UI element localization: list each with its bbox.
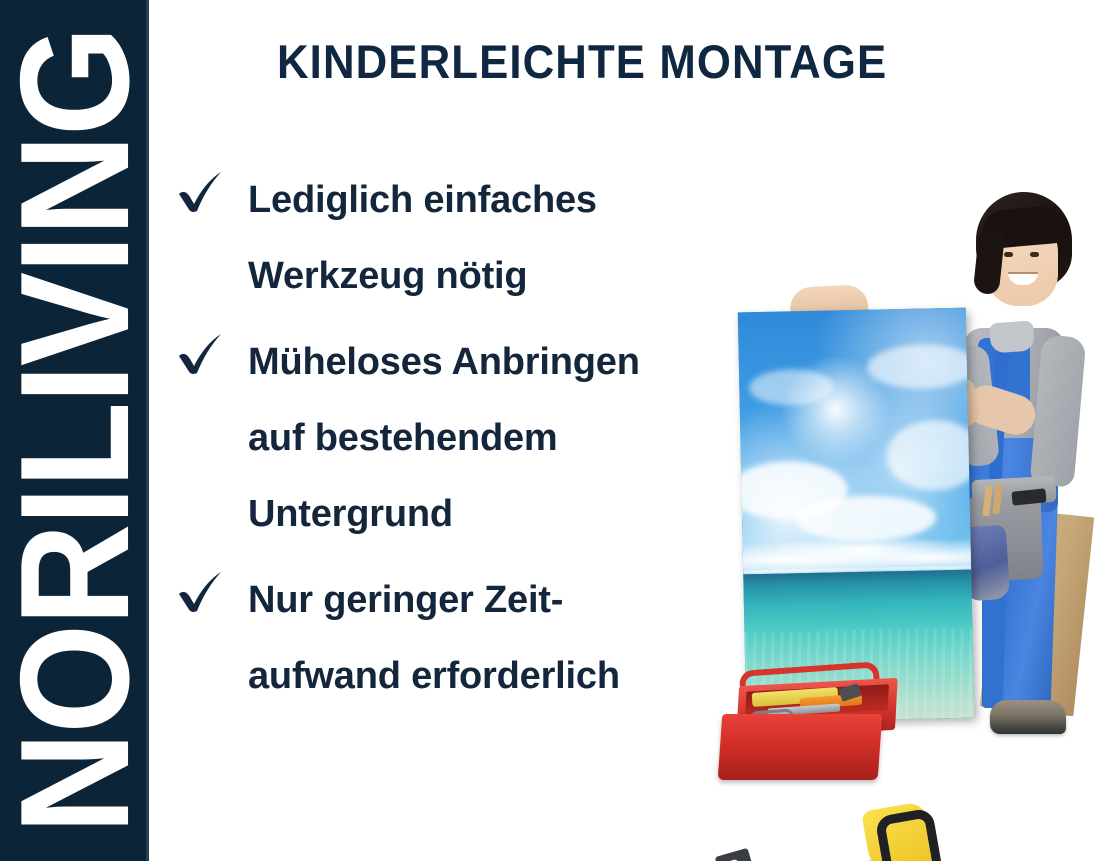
check-icon [176,332,224,376]
eye-left [1004,252,1013,257]
shirt-collar [989,321,1035,354]
check-icon [176,170,224,214]
list-item-line: auf bestehendem [248,400,692,476]
list-item: Müheloses Anbringen auf bestehendem Unte… [172,324,692,552]
list-item-line: Lediglich einfaches [248,162,692,238]
eye-right [1030,252,1039,257]
list-item-line: Untergrund [248,476,692,552]
list-item-line: Nur geringer Zeit- [248,562,692,638]
toolbox-body [718,714,883,780]
benefit-list: Lediglich einfaches Werkzeug nötig Mühel… [172,162,692,724]
hand-saw [720,800,920,861]
list-item-line: Müheloses Anbringen [248,324,692,400]
saw-grip [875,807,944,861]
brand-sidebar-edge [146,0,149,861]
promo-banner: NORILIVING KINDERLEICHTE MONTAGE Ledigli… [0,0,1111,861]
toolbox [716,658,906,790]
check-icon [176,570,224,614]
brand-sidebar: NORILIVING [0,0,149,861]
list-item-line: Werkzeug nötig [248,238,692,314]
list-item-text: Müheloses Anbringen auf bestehendem Unte… [248,324,692,552]
product-photo [690,160,1111,850]
brand-name: NORILIVING [0,27,149,833]
list-item-text: Lediglich einfaches Werkzeug nötig [248,162,692,314]
shoe [990,700,1066,734]
list-item: Nur geringer Zeit- aufwand erforderlich [172,562,692,714]
list-item-text: Nur geringer Zeit- aufwand erforderlich [248,562,692,714]
page-title: KINDERLEICHTE MONTAGE [277,38,887,85]
list-item: Lediglich einfaches Werkzeug nötig [172,162,692,314]
list-item-line: aufwand erforderlich [248,638,692,714]
